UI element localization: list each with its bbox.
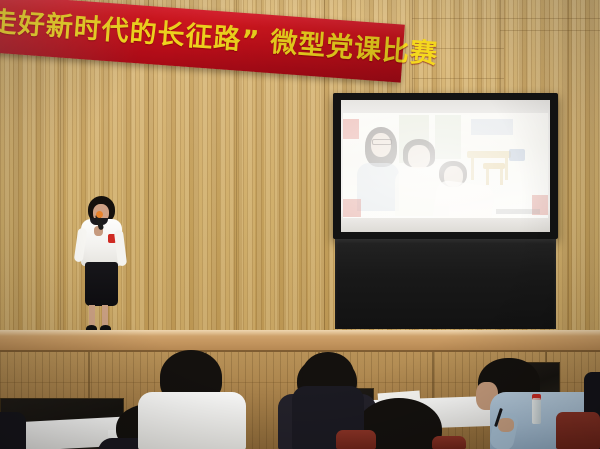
presenter-leg [89, 305, 95, 327]
presenter-leg [102, 305, 108, 327]
presenter-skirt [85, 262, 118, 306]
projection-screen [333, 93, 558, 336]
audience-chair [432, 436, 466, 449]
projected-image [343, 113, 548, 218]
water-bottle [532, 398, 541, 424]
presenter [72, 196, 130, 336]
wall-seam [500, 30, 600, 31]
audience-chair [556, 412, 600, 449]
wall-seam [568, 0, 569, 352]
wall-seam [412, 78, 504, 79]
stage-floor-highlight [0, 330, 600, 336]
audience-body [138, 392, 246, 449]
auditorium-photo: 走好新时代的长征路” 微型党课比赛 [0, 0, 600, 449]
audience-hand [498, 418, 514, 432]
screen-surface [341, 100, 550, 232]
event-banner: 走好新时代的长征路” 微型党课比赛 [0, 0, 416, 90]
audience-body [0, 412, 26, 449]
banner-text: 走好新时代的长征路” 微型党课比赛 [0, 0, 410, 69]
screen-skirt [335, 239, 556, 329]
banner-cloth: 走好新时代的长征路” 微型党课比赛 [0, 0, 405, 83]
audience-chair [336, 430, 376, 449]
photo-overexposure-haze [343, 113, 548, 218]
microphone-head-icon [96, 211, 103, 218]
wall-seam [412, 18, 600, 19]
screen-frame [333, 93, 558, 239]
